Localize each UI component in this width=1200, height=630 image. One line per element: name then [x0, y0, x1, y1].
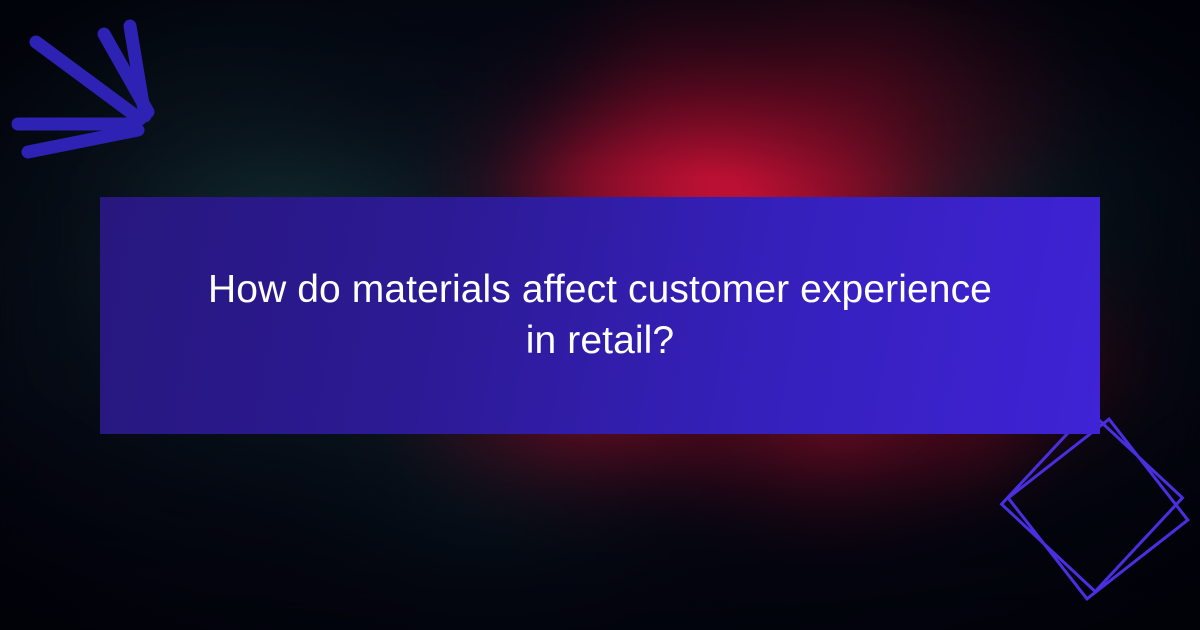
- sparkle-burst-icon: [0, 0, 200, 180]
- headline-text: How do materials affect customer experie…: [200, 265, 1000, 366]
- headline-banner: How do materials affect customer experie…: [100, 197, 1100, 434]
- rotated-squares-decoration: [970, 415, 1200, 630]
- rotated-square-outline-1: [1002, 415, 1183, 591]
- rotated-square-outline-2: [1008, 419, 1188, 599]
- sparkle-ray-2: [130, 26, 145, 116]
- sparkle-ray-5: [28, 130, 138, 152]
- og-image-canvas: How do materials affect customer experie…: [0, 0, 1200, 630]
